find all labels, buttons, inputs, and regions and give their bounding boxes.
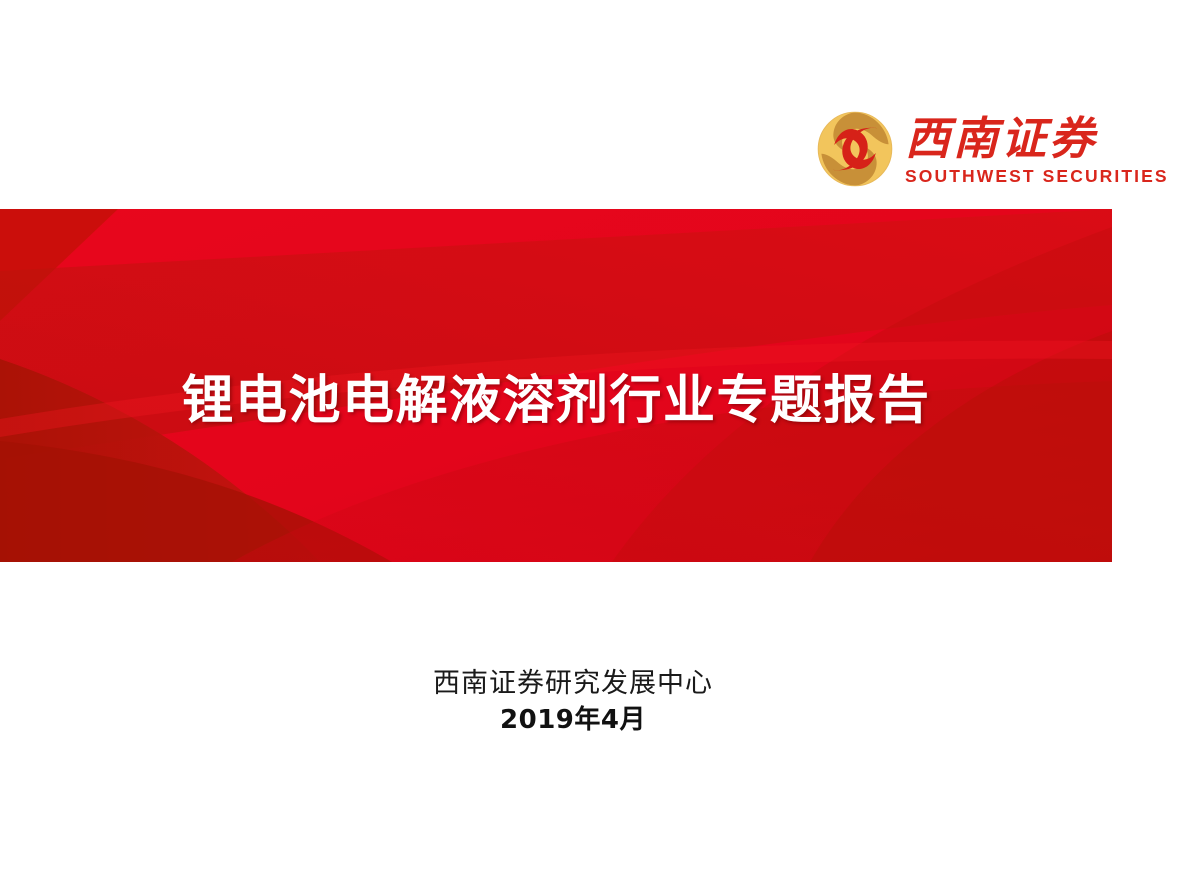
report-title: 锂电池电解液溶剂行业专题报告 <box>181 358 930 433</box>
research-center-name: 西南证券研究发展中心 <box>0 665 1146 702</box>
title-banner: 锂电池电解液溶剂行业专题报告 <box>0 209 1112 562</box>
logo-english-name: SOUTHWEST SECURITIES <box>905 166 1169 186</box>
logo-chinese-name: 西南证券 <box>905 114 1169 164</box>
report-date: 2019年4月 <box>0 702 1146 738</box>
cover-footer: 西南证券研究发展中心 2019年4月 <box>0 665 1146 738</box>
brand-logo: 西南证券 SOUTHWEST SECURITIES <box>815 103 1125 195</box>
southwest-securities-swirl-logo-icon <box>815 109 895 189</box>
report-title-container: 锂电池电解液溶剂行业专题报告 <box>0 209 1112 562</box>
logo-wordmark: 西南证券 SOUTHWEST SECURITIES <box>905 112 1169 186</box>
report-cover-slide: 西南证券 SOUTHWEST SECURITIES <box>0 0 1190 893</box>
